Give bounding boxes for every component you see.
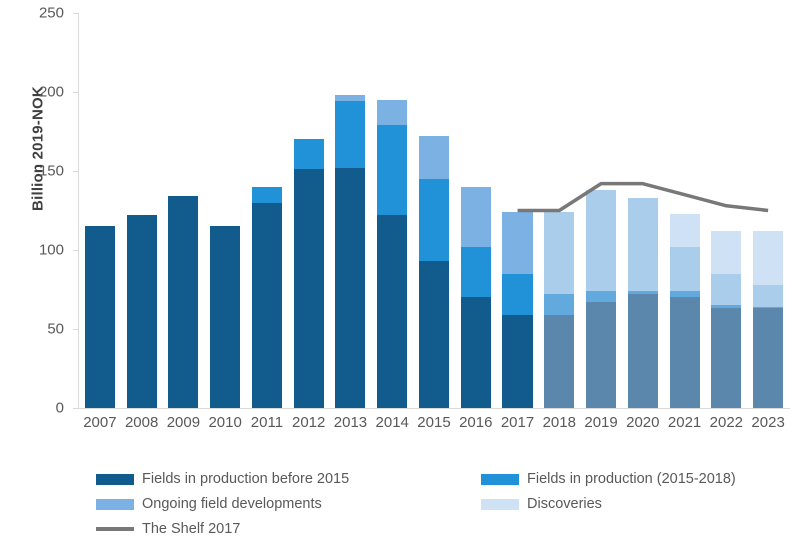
plot-area [79,13,789,408]
bar-group[interactable] [168,13,198,408]
bar-segment[interactable] [544,315,574,408]
x-tick-label: 2019 [580,414,622,431]
legend-label: The Shelf 2017 [142,521,240,537]
bar-segment[interactable] [628,291,658,294]
bar-segment[interactable] [586,302,616,408]
bar-segment[interactable] [168,196,198,408]
legend-row: The Shelf 2017 [96,518,756,540]
y-tick-label: 100 [24,242,64,259]
bar-group[interactable] [628,13,658,408]
bar-segment[interactable] [335,168,365,408]
bar-group[interactable] [127,13,157,408]
bar-group[interactable] [335,13,365,408]
bar-group[interactable] [461,13,491,408]
x-tick-label: 2011 [246,414,288,431]
bar-group[interactable] [586,13,616,408]
chart-container: Billion 2019-NOK 250200150100500 2007200… [0,0,800,545]
bar-segment[interactable] [670,291,700,297]
x-tick-label: 2012 [288,414,330,431]
x-tick-label: 2008 [121,414,163,431]
x-axis-line [78,408,790,409]
legend-item[interactable]: Discoveries [481,493,602,515]
bar-segment[interactable] [711,305,741,308]
bar-segment[interactable] [252,187,282,203]
x-tick-label: 2010 [204,414,246,431]
x-axis-labels: 2007200820092010201120122013201420152016… [79,414,789,444]
x-tick-label: 2022 [705,414,747,431]
y-tick-mark [73,250,78,251]
legend-item[interactable]: Fields in production before 2015 [96,468,349,490]
x-tick-label: 2009 [163,414,205,431]
legend-line-swatch [96,527,134,531]
y-tick-label: 200 [24,84,64,101]
legend-row: Fields in production before 2015Fields i… [96,468,756,490]
bar-segment[interactable] [753,231,783,285]
legend-color-swatch [481,499,519,510]
bar-segment[interactable] [335,101,365,167]
x-tick-label: 2015 [413,414,455,431]
bar-group[interactable] [502,13,532,408]
legend-label: Fields in production before 2015 [142,471,349,487]
bar-group[interactable] [210,13,240,408]
bar-group[interactable] [252,13,282,408]
x-tick-label: 2007 [79,414,121,431]
bar-segment[interactable] [544,212,574,294]
bar-group[interactable] [377,13,407,408]
bar-segment[interactable] [252,203,282,408]
bar-segment[interactable] [127,215,157,408]
bar-segment[interactable] [711,231,741,274]
bar-segment[interactable] [628,198,658,291]
y-tick-mark [73,329,78,330]
bar-segment[interactable] [586,190,616,291]
bar-segment[interactable] [419,179,449,261]
bar-segment[interactable] [502,274,532,315]
y-tick-mark [73,171,78,172]
bar-segment[interactable] [544,294,574,315]
x-tick-label: 2021 [664,414,706,431]
x-tick-label: 2014 [371,414,413,431]
legend-label: Ongoing field developments [142,496,322,512]
bar-segment[interactable] [670,214,700,247]
bar-segment[interactable] [210,226,240,408]
bar-group[interactable] [753,13,783,408]
bar-group[interactable] [419,13,449,408]
y-tick-label: 150 [24,163,64,180]
bar-segment[interactable] [753,308,783,408]
bar-group[interactable] [294,13,324,408]
bar-segment[interactable] [502,315,532,408]
bar-segment[interactable] [294,169,324,408]
legend-color-swatch [96,474,134,485]
bar-segment[interactable] [377,125,407,215]
x-tick-label: 2013 [330,414,372,431]
x-tick-label: 2017 [497,414,539,431]
x-tick-label: 2018 [538,414,580,431]
bar-segment[interactable] [586,291,616,302]
bar-segment[interactable] [711,308,741,408]
bar-segment[interactable] [628,294,658,408]
y-tick-label: 250 [24,5,64,22]
bar-segment[interactable] [335,95,365,101]
legend-color-swatch [481,474,519,485]
bar-segment[interactable] [670,247,700,291]
y-tick-mark [73,408,78,409]
bar-segment[interactable] [419,136,449,179]
bar-segment[interactable] [85,226,115,408]
bar-segment[interactable] [753,285,783,307]
bar-segment[interactable] [461,297,491,408]
bar-group[interactable] [670,13,700,408]
bar-segment[interactable] [294,139,324,169]
bar-segment[interactable] [502,212,532,274]
x-tick-label: 2020 [622,414,664,431]
bar-segment[interactable] [377,215,407,408]
bar-segment[interactable] [419,261,449,408]
bar-group[interactable] [85,13,115,408]
legend-item[interactable]: Fields in production (2015-2018) [481,468,736,490]
legend-row: Ongoing field developmentsDiscoveries [96,493,756,515]
bar-segment[interactable] [670,297,700,408]
bar-group[interactable] [711,13,741,408]
y-tick-label: 0 [24,400,64,417]
bar-group[interactable] [544,13,574,408]
bar-segment[interactable] [753,307,783,309]
legend-item[interactable]: The Shelf 2017 [96,518,240,540]
legend-label: Discoveries [527,496,602,512]
y-tick-mark [73,13,78,14]
y-axis-labels: 250200150100500 [20,0,64,420]
x-tick-label: 2023 [747,414,789,431]
legend-label: Fields in production (2015-2018) [527,471,736,487]
bar-segment[interactable] [711,274,741,306]
bar-segment[interactable] [461,187,491,247]
y-tick-label: 50 [24,321,64,338]
bar-segment[interactable] [461,247,491,298]
x-tick-label: 2016 [455,414,497,431]
bar-segment[interactable] [377,100,407,125]
legend-item[interactable]: Ongoing field developments [96,493,322,515]
legend-color-swatch [96,499,134,510]
chart-legend: Fields in production before 2015Fields i… [96,468,756,540]
y-tick-mark [73,92,78,93]
